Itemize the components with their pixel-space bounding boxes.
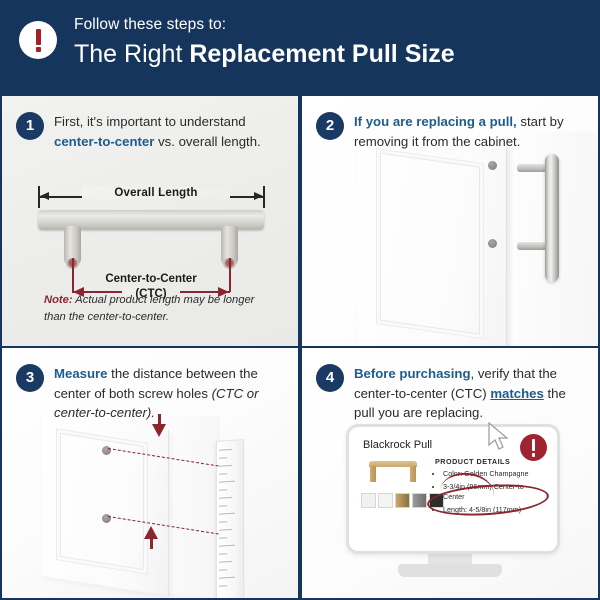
cabinet-side-face-3 [168,416,220,594]
step1-lead: First, it's important to understand [54,114,246,129]
step-number-badge-3: 3 [16,364,44,392]
step-panel-2: 2 If you are replacing a pull, start by … [302,96,598,346]
product-details-heading: PRODUCT DETAILS [435,457,510,466]
header-banner: Follow these steps to: The Right Replace… [0,0,600,94]
step1-tail: vs. overall length. [154,134,260,149]
step1-highlight: center-to-center [54,134,154,149]
exclamation-circle-icon [19,21,57,59]
overall-length-arrow-right [254,192,263,200]
overall-length-label: Overall Length [82,187,230,199]
step-text-3: Measure the distance between the center … [54,364,286,423]
step-text-4: Before purchasing, verify that the cente… [354,364,586,423]
screw-hole-top [488,161,497,170]
step-number-badge-1: 1 [16,112,44,140]
overall-length-arrow-left [40,192,49,200]
swatch-4[interactable] [412,493,427,508]
page-title: The Right Replacement Pull Size [74,39,594,69]
step-panel-1: 1 First, it's important to understand ce… [2,96,298,346]
title-bold: Replacement Pull Size [189,40,454,68]
warning-exclamation-icon [520,434,547,461]
monitor-base [398,564,502,577]
measuring-ruler [216,439,244,598]
note-text: Actual product length may be longer than… [44,294,254,323]
cabinet-door-inner-panel [376,148,484,339]
ctc-stem-right [229,258,231,292]
note-label: Note: [44,294,73,306]
step-text-1: First, it's important to understand cent… [54,112,286,151]
title-light: The Right [74,40,189,68]
step-number-badge-2: 2 [316,112,344,140]
step-panel-3: 3 Measure the distance between the cente… [2,348,298,598]
step1-note: Note: Actual product length may be longe… [44,292,276,326]
swatch-1[interactable] [361,493,376,508]
cabinet-door-3 [42,410,169,596]
pull-mount-post-top [517,164,547,172]
measure-arrow-stem-up [150,537,153,549]
step2-highlight: If you are replacing a pull, [354,114,517,129]
screw-hole-bottom [488,239,497,248]
step-panel-4: 4 Before purchasing, verify that the cen… [302,348,598,598]
pull-mount-post-bottom [517,242,547,250]
cabinet-door-edge [506,137,516,346]
cabinet-door-2 [358,128,507,346]
installed-bar-pull [545,154,559,282]
infographic-root: Follow these steps to: The Right Replace… [0,0,600,600]
swatch-3[interactable] [395,493,410,508]
step4-highlight: Before purchasing [354,366,471,381]
step3-highlight: Measure [54,366,108,381]
ctc-label-main: Center-to-Center [105,273,196,285]
measure-arrow-down-icon [152,424,166,437]
step-number-badge-4: 4 [316,364,344,392]
header-kicker: Follow these steps to: [74,15,594,35]
step-text-2: If you are replacing a pull, start by re… [354,112,586,151]
bar-pull-diagram: Overall Length Center-to-Center(CTC) [2,174,298,284]
steps-grid: 1 First, it's important to understand ce… [0,94,600,600]
product-pull-image [365,461,421,485]
header-text-group: Follow these steps to: The Right Replace… [74,15,594,69]
product-title: Blackrock Pull [363,439,432,451]
swatch-2[interactable] [378,493,393,508]
step4-link-matches[interactable]: matches [490,386,544,401]
